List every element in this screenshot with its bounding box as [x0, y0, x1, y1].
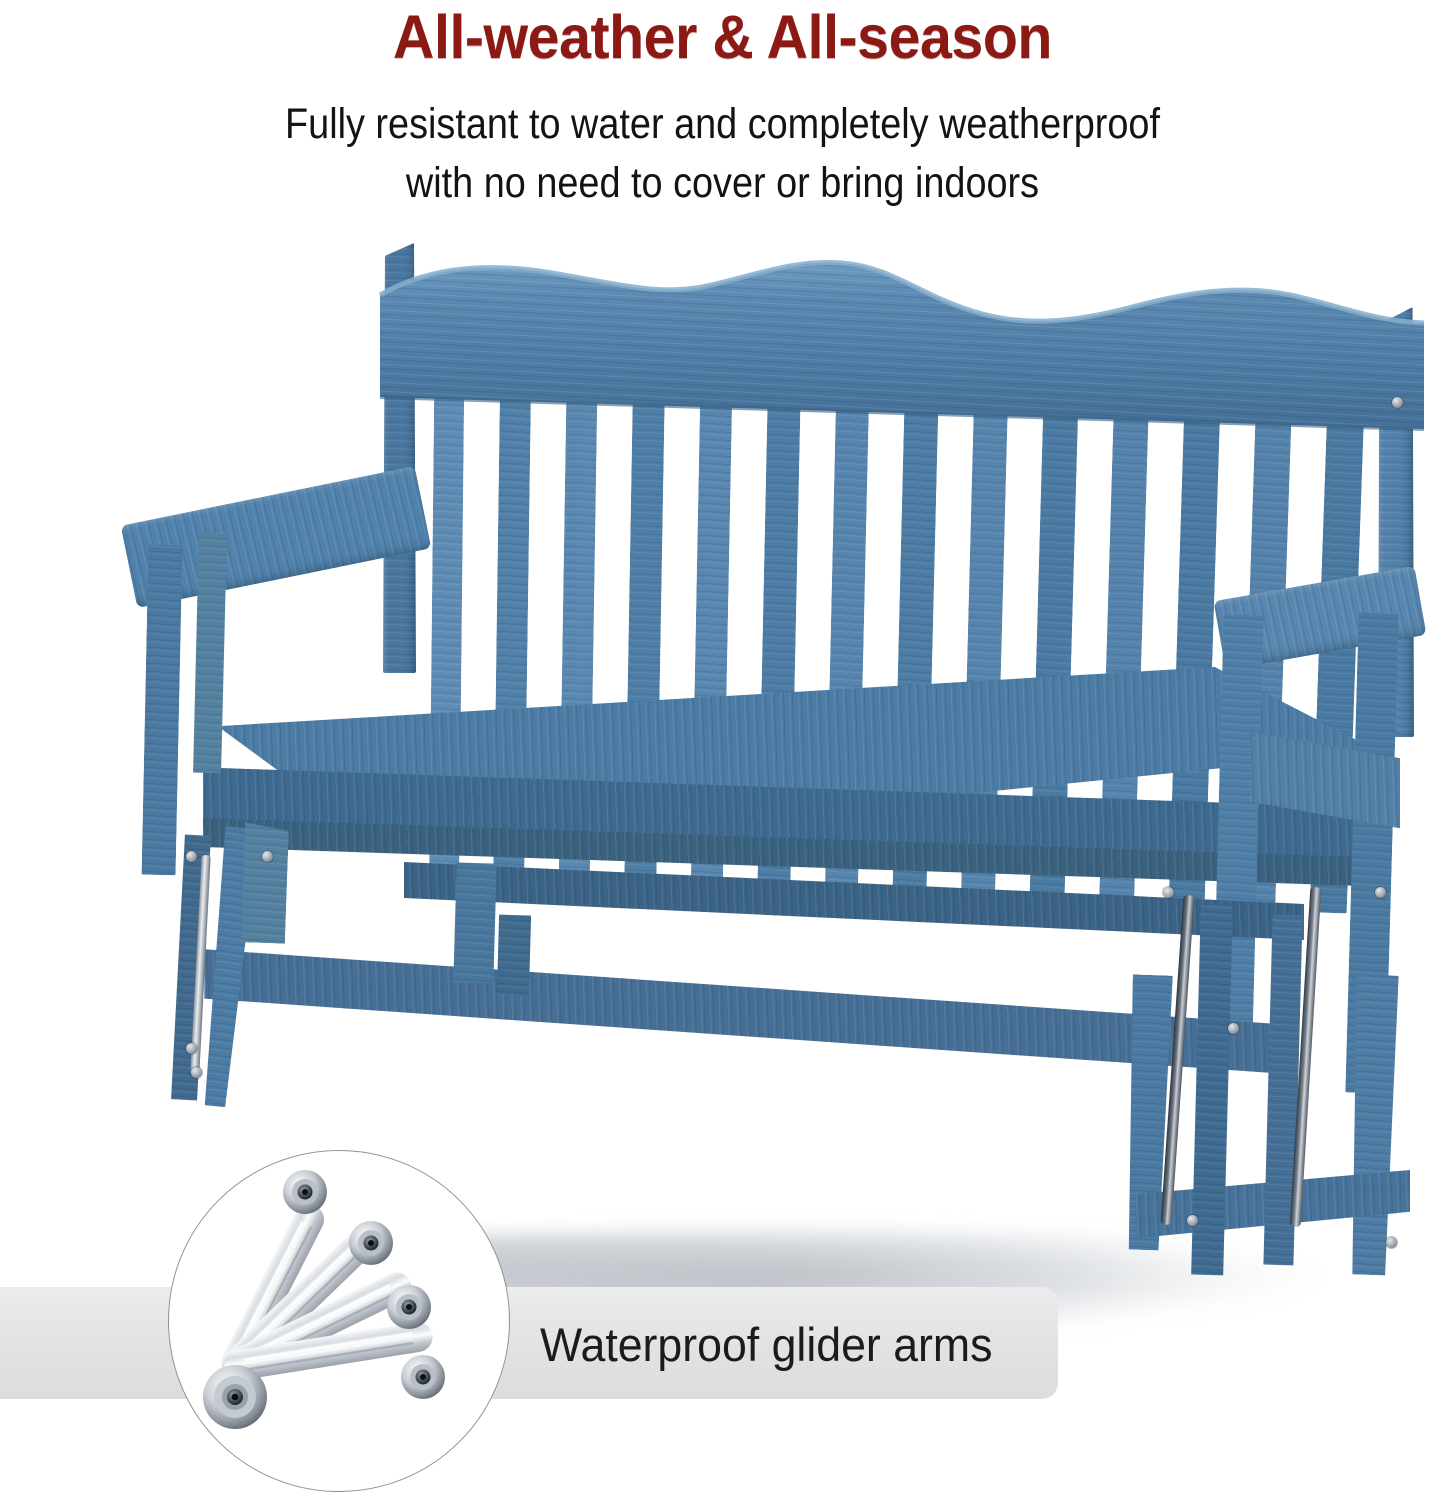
screw-arm-post-right [1228, 1023, 1239, 1034]
glider-screw-left-top [186, 851, 197, 862]
product-image [0, 215, 1445, 1315]
bench-center-block [453, 862, 496, 983]
glider-bench [0, 215, 1445, 1315]
screw-rail-left [186, 1043, 197, 1054]
bench-arm-post-left [142, 545, 183, 876]
glider-arm-detail-inset [168, 1150, 510, 1492]
subtitle-line-2: with no need to cover or bring indoors [87, 157, 1359, 210]
glider-screw-left-bottom [191, 1067, 202, 1078]
screw-back-post-right [1392, 397, 1403, 408]
screw-leg-right [1386, 1237, 1397, 1248]
screw-side-panel-right [1375, 887, 1386, 898]
bench-crest-rail [372, 237, 1432, 447]
callout-label: Waterproof glider arms [540, 1310, 1034, 1380]
glider-arm-pivot-hub [203, 1365, 267, 1429]
subtitle-line-1: Fully resistant to water and completely … [87, 98, 1359, 151]
bench-arm-support-left [193, 533, 227, 774]
glider-screw-right-bottom [1187, 1215, 1198, 1226]
headline-block: All-weather & All-season Fully resistant… [0, 0, 1445, 210]
page-title: All-weather & All-season [43, 2, 1401, 72]
glider-screw-right-top [1163, 887, 1174, 898]
bench-bracket-left [241, 822, 289, 943]
screw-bracket-left [262, 851, 273, 862]
bench-center-block-2 [497, 915, 531, 996]
